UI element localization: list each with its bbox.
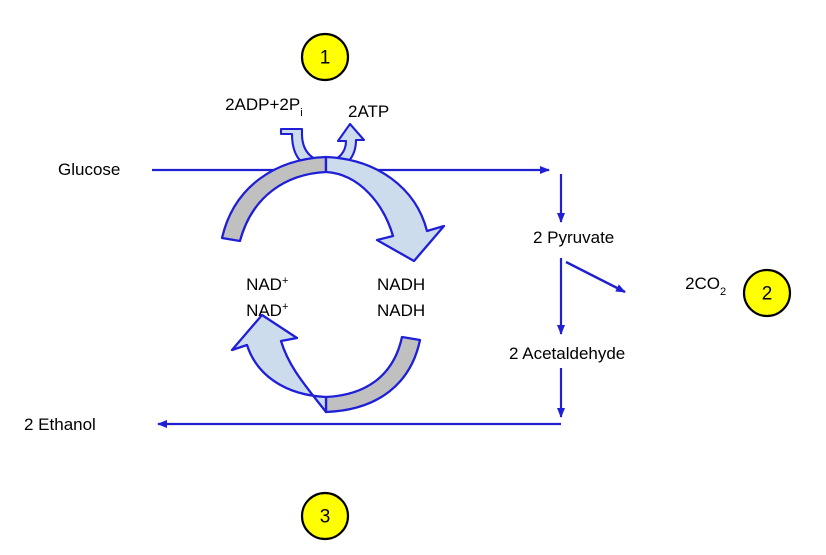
- step-marker-3[interactable]: 3: [302, 493, 348, 539]
- nadh-to-nad-lower-loop-arrow: [232, 315, 420, 412]
- label-ethanol: 2 Ethanol: [24, 415, 96, 434]
- label-atp: 2ATP: [348, 102, 389, 121]
- step-marker-1[interactable]: 1: [302, 34, 348, 80]
- diagram-canvas: 2ADP+2Pi 2ATP Glucose 2 Pyruvate 2CO2 2 …: [0, 0, 826, 555]
- fermentation-diagram: 2ADP+2Pi 2ATP Glucose 2 Pyruvate 2CO2 2 …: [0, 0, 826, 555]
- label-nadh-2: NADH: [377, 301, 425, 320]
- pyruvate-to-co2-arrow: [566, 262, 625, 292]
- step-marker-2-label: 2: [762, 284, 773, 305]
- step-marker-1-label: 1: [320, 48, 331, 69]
- label-nadh-1: NADH: [377, 275, 425, 294]
- label-co2: 2CO2: [652, 274, 750, 299]
- step-marker-3-label: 3: [320, 507, 331, 528]
- nad-to-nadh-upper-loop-arrow: [222, 157, 444, 261]
- label-adp: 2ADP+2Pi: [192, 95, 326, 120]
- label-nad-plus-2: NAD+: [213, 295, 312, 320]
- label-acetaldehyde: 2 Acetaldehyde: [509, 344, 625, 363]
- step-marker-2[interactable]: 2: [744, 270, 790, 316]
- label-glucose: Glucose: [58, 160, 120, 179]
- label-pyruvate: 2 Pyruvate: [533, 228, 614, 247]
- label-nad-plus-1: NAD+: [213, 269, 312, 294]
